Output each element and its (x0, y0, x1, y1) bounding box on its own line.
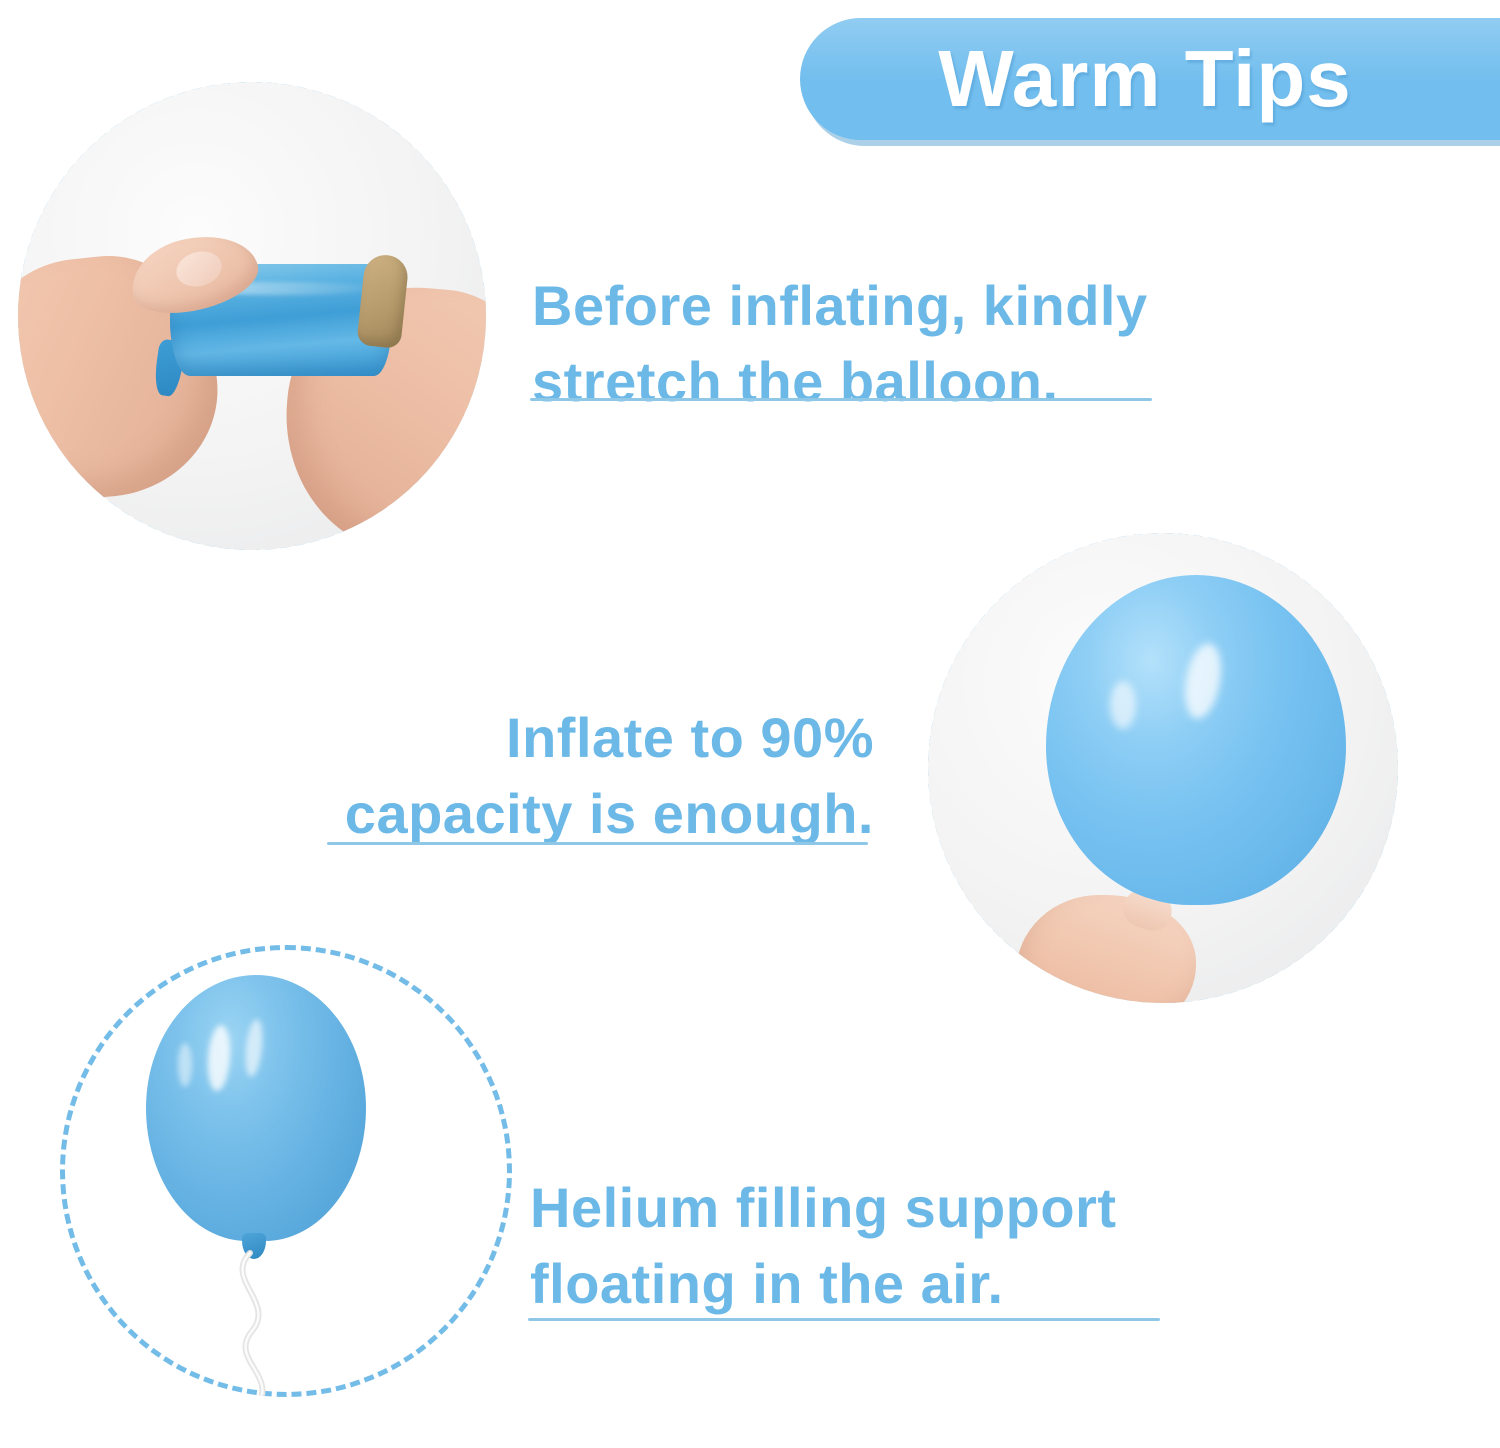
tip-divider-capacity (327, 842, 868, 845)
tip-image-helium (60, 945, 512, 1397)
tip-capacity-line-2: capacity is enough. (322, 776, 874, 852)
tip-helium-line-1: Helium filling support (530, 1170, 1170, 1246)
tip-stretch-line-1: Before inflating, kindly (532, 268, 1192, 344)
tip-capacity-line-1: Inflate to 90% (322, 700, 874, 776)
balloon-ribbon (210, 1253, 300, 1397)
page-title: Warm Tips (938, 39, 1382, 119)
tip-image-capacity (928, 533, 1398, 1003)
inflated-balloon (1046, 575, 1346, 905)
tip-image-helium-clip (60, 945, 512, 1397)
tip-helium-line-2: floating in the air. (530, 1246, 1170, 1322)
warm-tips-banner: Warm Tips (800, 18, 1500, 140)
tip-divider-helium (528, 1318, 1160, 1321)
balloon-highlight (1110, 681, 1136, 729)
balloon-highlight (178, 1043, 192, 1087)
tip-divider-stretch (530, 398, 1152, 401)
tip-image-stretch-clip (18, 82, 486, 550)
tip-image-capacity-clip (928, 533, 1398, 1003)
tip-stretch-line-2: stretch the balloon. (532, 344, 1192, 420)
tip-image-stretch (18, 82, 486, 550)
tip-text-stretch: Before inflating, kindly stretch the bal… (532, 268, 1192, 419)
tip-text-capacity: Inflate to 90% capacity is enough. (322, 700, 874, 851)
floating-balloon (146, 975, 366, 1241)
tip-text-helium: Helium filling support floating in the a… (530, 1170, 1170, 1321)
